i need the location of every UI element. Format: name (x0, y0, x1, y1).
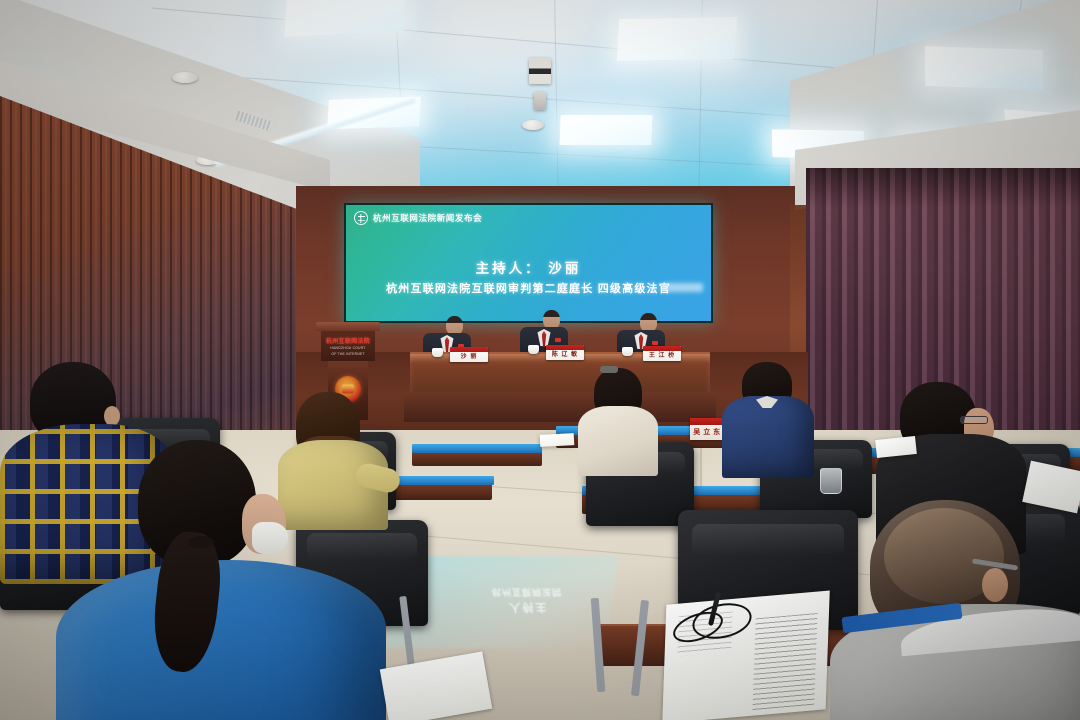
hair-tie (188, 536, 214, 548)
teacup (622, 347, 633, 356)
screen-subtitle: 杭州互联网法院互联网审判第二庭庭长 四级高级法官 (346, 280, 711, 296)
court-emblem-icon (354, 211, 368, 225)
podium-en-text-line2: OF THE INTERNET (331, 352, 364, 356)
podium-top (316, 322, 380, 331)
face-mask (252, 522, 288, 554)
screen-header-text: 杭州互联网法院新闻发布会 (373, 212, 482, 224)
document-rear-left (540, 433, 575, 447)
ceiling-light-panel (559, 115, 652, 145)
hair-clip (600, 366, 618, 373)
ceiling-camera (534, 92, 546, 110)
conference-room-scene: 杭州互联网法院新闻发布会 主持人： 沙丽 杭州互联网法院互联网审判第二庭庭长 四… (0, 0, 1080, 720)
podium-en-text-line1: HANGZHOU COURT (330, 346, 365, 350)
audience-table-edge (412, 444, 542, 453)
person-torso (56, 560, 386, 720)
ceiling-projector (529, 58, 551, 84)
ceiling-light-panel (284, 0, 406, 37)
podium-cn-text: 杭州互联网法院 (326, 336, 370, 345)
document-text-lines (753, 613, 818, 711)
audience-nameplate: 吴 立 东 (690, 418, 724, 440)
nameplate-official-right: 王 江 桥 (643, 346, 681, 361)
person-ear (104, 406, 120, 426)
ceiling-smoke-detector (172, 72, 198, 83)
floor-reflection-text-2: 主持人 (461, 600, 593, 616)
nameplate-text: 王 江 桥 (643, 351, 681, 361)
person-torso (578, 406, 658, 476)
head-table-front-panel (404, 392, 716, 422)
screen-blurred-box (667, 283, 703, 292)
water-glass (820, 468, 842, 494)
screen-title: 主持人： 沙丽 (346, 257, 711, 277)
screen-header: 杭州互联网法院新闻发布会 (354, 211, 482, 225)
floor-reflection-text-1: 杭州互联网法院 (451, 586, 603, 599)
curtain-shadow (806, 168, 1080, 208)
nameplate-text: 沙 丽 (450, 352, 488, 362)
audience-nameplate-text: 吴 立 东 (690, 425, 724, 440)
ceiling-light-panel (617, 17, 737, 61)
ceiling-light-panel (925, 46, 1044, 90)
teacup (432, 348, 443, 357)
official-badge (555, 338, 561, 342)
led-display-screen: 杭州互联网法院新闻发布会 主持人： 沙丽 杭州互联网法院互联网审判第二庭庭长 四… (344, 203, 713, 323)
person-ear (982, 568, 1008, 602)
nameplate-official-left: 沙 丽 (450, 347, 488, 362)
person-torso (722, 396, 814, 478)
nameplate-official-center: 陈 辽 敏 (546, 345, 584, 360)
glasses-icon (960, 416, 988, 424)
screen-body: 主持人： 沙丽 杭州互联网法院互联网审判第二庭庭长 四级高级法官 (346, 257, 711, 296)
podium-face: 杭州互联网法院 HANGZHOU COURT OF THE INTERNET (321, 331, 375, 361)
official-badge (652, 341, 658, 345)
nameplate-text: 陈 辽 敏 (546, 350, 584, 360)
teacup (528, 345, 539, 354)
ceiling-speaker (522, 120, 544, 130)
